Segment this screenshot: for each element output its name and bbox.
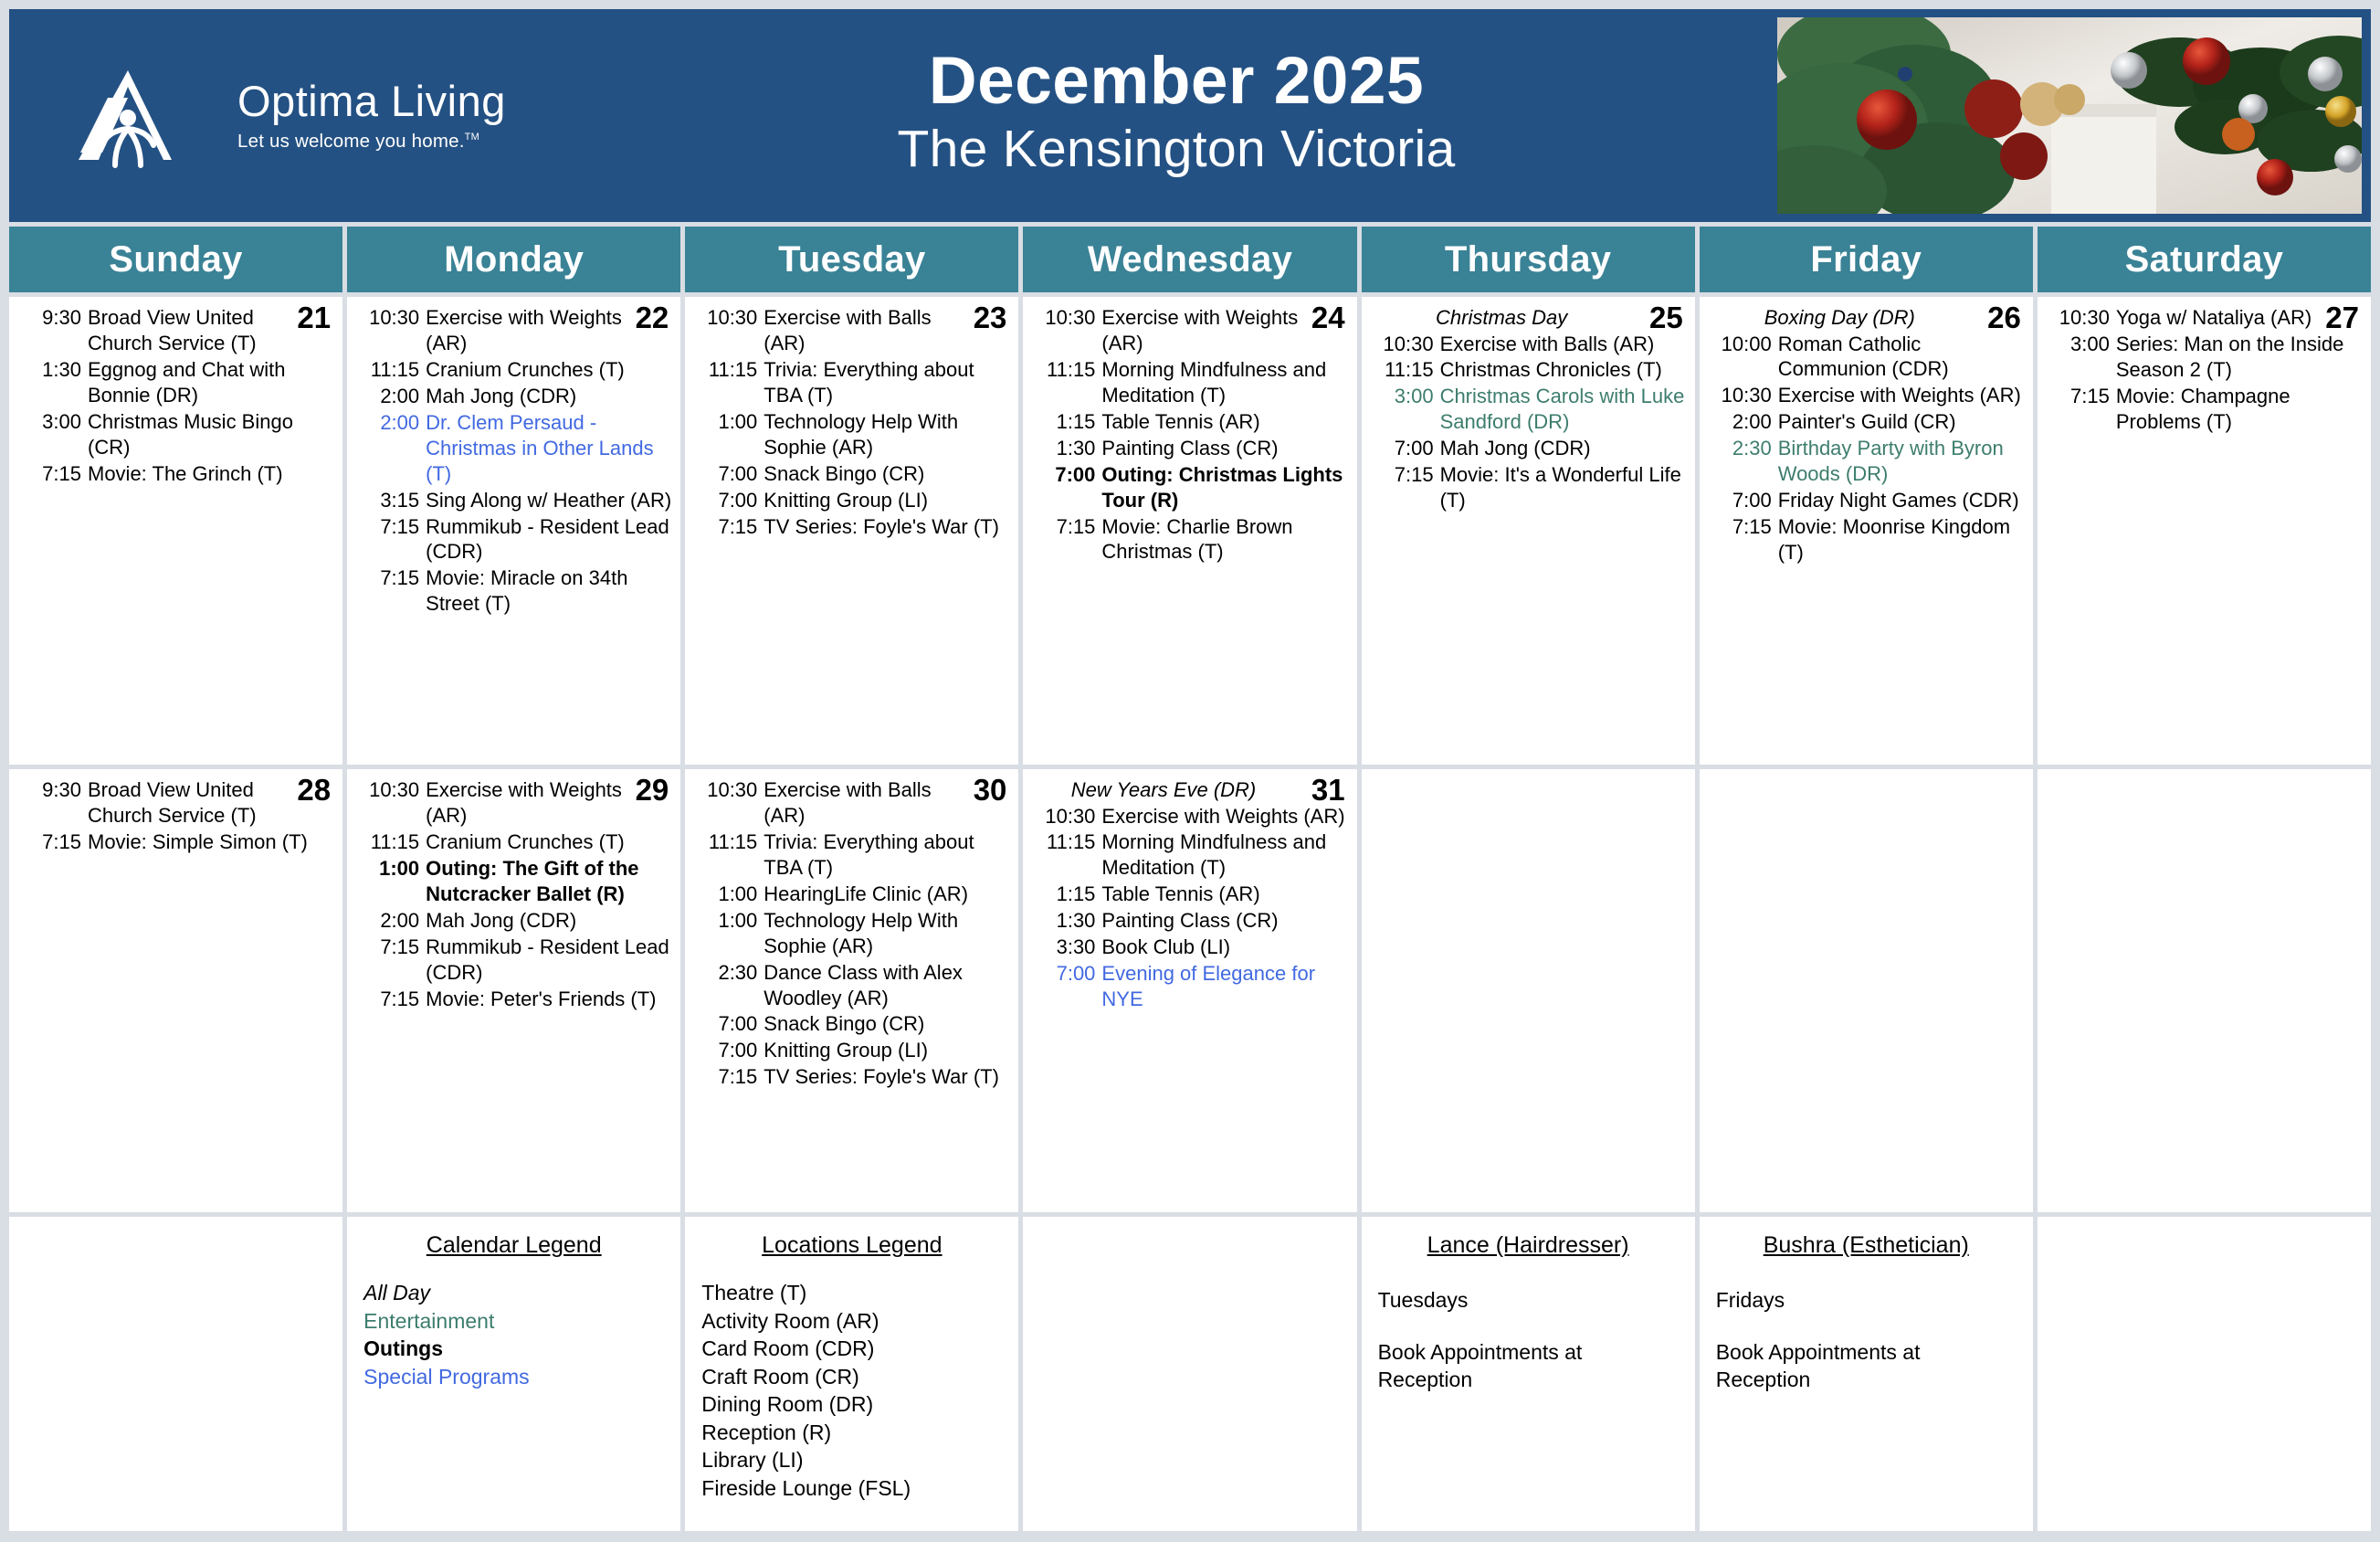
event-time: 9:30 [16, 777, 88, 829]
event-description: Birthday Party with Byron Woods (DR) [1778, 436, 2024, 487]
event-time: 10:30 [1030, 305, 1101, 356]
calendar-event[interactable]: 1:00Technology Help With Sophie (AR) [692, 409, 1009, 460]
event-description: Series: Man on the Inside Season 2 (T) [2116, 332, 2362, 383]
event-description: Cranium Crunches (T) [426, 829, 671, 855]
brand-tagline-text: Let us welcome you home. [237, 131, 465, 152]
day-cell[interactable] [2038, 769, 2371, 1212]
event-description: Christmas Music Bingo (CR) [88, 409, 333, 460]
calendar-legend: Calendar Legend All Day Entertainment Ou… [347, 1217, 680, 1531]
event-description: Morning Mindfulness and Meditation (T) [1101, 829, 1347, 881]
event-description: Painting Class (CR) [1101, 436, 1347, 461]
event-time: 1:00 [692, 409, 763, 460]
event-description: Rummikub - Resident Lead (CDR) [426, 514, 671, 565]
calendar-event[interactable]: 1:00HearingLife Clinic (AR) [692, 882, 1009, 907]
calendar-event[interactable]: 7:15Movie: Peter's Friends (T) [354, 987, 671, 1012]
day-cell[interactable]: 2310:30Exercise with Balls (AR)11:15Triv… [685, 297, 1018, 765]
calendar-event[interactable]: 7:15TV Series: Foyle's War (T) [692, 1064, 1009, 1090]
calendar-event[interactable]: 2:30Birthday Party with Byron Woods (DR) [1707, 436, 2024, 487]
event-time: 11:15 [354, 357, 426, 383]
calendar-event[interactable]: 7:00Knitting Group (LI) [692, 488, 1009, 513]
event-description: Friday Night Games (CDR) [1778, 488, 2024, 513]
event-time: 7:00 [692, 488, 763, 513]
calendar-event[interactable]: 10:30Exercise with Weights (AR) [354, 777, 671, 829]
trademark-mark: TM [465, 132, 479, 143]
event-time: 7:15 [354, 514, 426, 565]
event-time: 10:30 [354, 777, 426, 829]
event-time: 11:15 [1369, 357, 1440, 383]
day-cell[interactable]: 2410:30Exercise with Weights (AR)11:15Mo… [1023, 297, 1356, 765]
calendar-event[interactable]: 7:15Movie: Champagne Problems (T) [2045, 384, 2362, 435]
event-description: Cranium Crunches (T) [426, 357, 671, 383]
event-description: Dance Class with Alex Woodley (AR) [763, 960, 1009, 1011]
event-description: Christmas Chronicles (T) [1440, 357, 1686, 383]
legend-item-entertainment: Entertainment [363, 1307, 664, 1336]
event-description: Christmas Carols with Luke Sandford (DR) [1440, 384, 1686, 435]
event-description: Outing: Christmas Lights Tour (R) [1101, 462, 1347, 513]
event-time: 1:00 [692, 882, 763, 907]
calendar-event[interactable]: 7:00Outing: Christmas Lights Tour (R) [1030, 462, 1347, 513]
calendar-event[interactable]: 7:15Movie: Moonrise Kingdom (T) [1707, 514, 2024, 565]
service-hairdresser-note-1: Book Appointments at [1378, 1338, 1679, 1367]
event-time: 10:30 [2045, 305, 2116, 331]
calendar-event[interactable]: 3:15Sing Along w/ Heather (AR) [354, 488, 671, 513]
service-hairdresser-note-2: Reception [1378, 1366, 1679, 1394]
day-number: 21 [297, 302, 331, 333]
event-time: 1:00 [692, 908, 763, 959]
event-description: Movie: Miracle on 34th Street (T) [426, 565, 671, 617]
event-time: 7:15 [354, 565, 426, 617]
calendar-event[interactable]: 11:15Morning Mindfulness and Meditation … [1030, 357, 1347, 408]
event-time: 2:00 [1707, 409, 1778, 435]
event-description: Exercise with Balls (AR) [1440, 332, 1686, 357]
service-hairdresser-title: Lance (Hairdresser) [1378, 1231, 1679, 1259]
calendar-event[interactable]: 1:15Table Tennis (AR) [1030, 409, 1347, 435]
calendar-event[interactable]: 3:00Christmas Carols with Luke Sandford … [1369, 384, 1686, 435]
locations-legend: Locations Legend Theatre (T) Activity Ro… [685, 1217, 1018, 1531]
event-time: 7:15 [2045, 384, 2116, 435]
calendar-event[interactable]: 1:00Outing: The Gift of the Nutcracker B… [354, 856, 671, 907]
calendar-event[interactable]: 9:30Broad View United Church Service (T) [16, 305, 333, 356]
calendar-event[interactable]: 9:30Broad View United Church Service (T) [16, 777, 333, 829]
day-number: 26 [1987, 302, 2021, 333]
event-description: Sing Along w/ Heather (AR) [426, 488, 671, 513]
location-item-fireside-lounge: Fireside Lounge (FSL) [701, 1474, 1002, 1503]
event-description: Exercise with Weights (AR) [1778, 383, 2024, 408]
day-cell[interactable] [1700, 769, 2033, 1212]
location-item-reception: Reception (R) [701, 1419, 1002, 1447]
calendar-event[interactable]: 7:00Knitting Group (LI) [692, 1038, 1009, 1063]
event-description: Movie: Peter's Friends (T) [426, 987, 671, 1012]
event-time: 7:15 [354, 935, 426, 986]
legend-item-special-programs: Special Programs [363, 1363, 664, 1391]
calendar-event[interactable]: 7:15Movie: Simple Simon (T) [16, 829, 333, 855]
event-time: 7:15 [16, 461, 88, 487]
event-time: 11:15 [692, 829, 763, 881]
day-number: 25 [1649, 302, 1683, 333]
calendar-event[interactable]: 7:15Movie: Miracle on 34th Street (T) [354, 565, 671, 617]
event-time: 7:00 [1030, 961, 1101, 1012]
event-description: Snack Bingo (CR) [763, 461, 1009, 487]
service-hairdresser-days: Tuesdays [1378, 1286, 1679, 1315]
event-description: Book Club (LI) [1101, 935, 1347, 960]
calendar-event[interactable]: 11:15Cranium Crunches (T) [354, 357, 671, 383]
calendar-event[interactable]: 1:30Painting Class (CR) [1030, 908, 1347, 934]
calendar-event[interactable]: 7:00Mah Jong (CDR) [1369, 436, 1686, 461]
calendar-event[interactable]: 7:15Movie: It's a Wonderful Life (T) [1369, 462, 1686, 513]
day-number: 31 [1311, 775, 1345, 805]
event-time: 10:30 [692, 777, 763, 829]
event-time: 3:30 [1030, 935, 1101, 960]
event-time: 7:15 [1030, 514, 1101, 565]
calendar-event[interactable]: 1:30Eggnog and Chat with Bonnie (DR) [16, 357, 333, 408]
event-description: Exercise with Weights (AR) [1101, 804, 1347, 829]
event-time: 7:00 [1030, 462, 1101, 513]
event-description: Mah Jong (CDR) [426, 908, 671, 934]
dow-header-tuesday: Tuesday [685, 227, 1018, 292]
day-cell[interactable]: 289:30Broad View United Church Service (… [9, 769, 342, 1212]
day-number: 28 [297, 775, 331, 805]
event-time: 7:15 [1369, 462, 1440, 513]
event-description: Evening of Elegance for NYE [1101, 961, 1347, 1012]
event-description: Roman Catholic Communion (CDR) [1778, 332, 2024, 383]
dow-header-friday: Friday [1700, 227, 2033, 292]
dow-header-monday: Monday [347, 227, 680, 292]
event-description: HearingLife Clinic (AR) [763, 882, 1009, 907]
event-description: Movie: The Grinch (T) [88, 461, 333, 487]
calendar-page: Optima Living Let us welcome you home.TM… [0, 0, 2380, 1542]
event-time: 10:30 [1707, 383, 1778, 408]
dow-header-saturday: Saturday [2038, 227, 2371, 292]
event-description: Movie: Moonrise Kingdom (T) [1778, 514, 2024, 565]
event-time: 11:15 [692, 357, 763, 408]
calendar-event[interactable]: 10:30Exercise with Weights (AR) [1030, 305, 1347, 356]
calendar-event[interactable]: 11:15Trivia: Everything about TBA (T) [692, 829, 1009, 881]
calendar-grid: Sunday Monday Tuesday Wednesday Thursday… [9, 222, 2371, 1531]
service-hairdresser-gap [1378, 1315, 1679, 1338]
service-esthetician-note-2: Reception [1716, 1366, 2017, 1394]
calendar-event[interactable]: 2:00Painter's Guild (CR) [1707, 409, 2024, 435]
day-cell[interactable]: 2710:30Yoga w/ Nataliya (AR)3:00Series: … [2038, 297, 2371, 765]
event-time: 10:30 [692, 305, 763, 356]
locations-legend-title: Locations Legend [701, 1231, 1002, 1259]
day-number: 27 [2325, 302, 2359, 333]
event-time: 1:15 [1030, 409, 1101, 435]
calendar-legend-title: Calendar Legend [363, 1231, 664, 1259]
brand-logo: Optima Living Let us welcome you home.TM [9, 9, 575, 222]
event-time: 10:00 [1707, 332, 1778, 383]
calendar-event[interactable]: 7:00Friday Night Games (CDR) [1707, 488, 2024, 513]
day-cell[interactable]: 25Christmas Day10:30Exercise with Balls … [1362, 297, 1695, 765]
calendar-event[interactable]: 10:30Exercise with Weights (AR) [1030, 804, 1347, 829]
calendar-event[interactable]: 1:00Technology Help With Sophie (AR) [692, 908, 1009, 959]
calendar-event[interactable]: 10:30Exercise with Balls (AR) [692, 777, 1009, 829]
calendar-event[interactable]: 10:30Exercise with Weights (AR) [1707, 383, 2024, 408]
event-time: 2:00 [354, 384, 426, 409]
event-time: 9:30 [16, 305, 88, 356]
all-day-event: Christmas Day [1369, 305, 1686, 331]
event-time: 11:15 [1030, 357, 1101, 408]
day-number: 29 [636, 775, 669, 805]
calendar-event[interactable]: 11:15Morning Mindfulness and Meditation … [1030, 829, 1347, 881]
day-cell[interactable]: 2910:30Exercise with Weights (AR)11:15Cr… [347, 769, 680, 1212]
event-description: Eggnog and Chat with Bonnie (DR) [88, 357, 333, 408]
event-description: Mah Jong (CDR) [426, 384, 671, 409]
legend-row-spacer-middle [1023, 1217, 1356, 1531]
calendar-event[interactable]: 11:15Cranium Crunches (T) [354, 829, 671, 855]
event-time: 7:00 [692, 1038, 763, 1063]
event-description: Snack Bingo (CR) [763, 1011, 1009, 1037]
service-esthetician-days: Fridays [1716, 1286, 2017, 1315]
calendar-event[interactable]: 7:15Rummikub - Resident Lead (CDR) [354, 935, 671, 986]
page-header: Optima Living Let us welcome you home.TM… [9, 9, 2371, 222]
service-esthetician-gap [1716, 1315, 2017, 1338]
calendar-event[interactable]: 2:00Mah Jong (CDR) [354, 908, 671, 934]
christmas-tree-ornaments-photo [1777, 17, 2362, 214]
calendar-event[interactable]: 10:30Exercise with Balls (AR) [692, 305, 1009, 356]
day-cell[interactable]: 219:30Broad View United Church Service (… [9, 297, 342, 765]
service-esthetician: Bushra (Esthetician) Fridays Book Appoin… [1700, 1217, 2033, 1531]
event-time: 7:15 [692, 514, 763, 540]
location-item-dining-room: Dining Room (DR) [701, 1390, 1002, 1419]
event-description: Table Tennis (AR) [1101, 409, 1347, 435]
day-cell[interactable] [1362, 769, 1695, 1212]
legend-row-spacer-right [2038, 1217, 2371, 1531]
event-description: Mah Jong (CDR) [1440, 436, 1686, 461]
event-description: TV Series: Foyle's War (T) [763, 514, 1009, 540]
day-number: 30 [974, 775, 1007, 805]
event-time: 1:30 [1030, 436, 1101, 461]
event-time: 3:00 [16, 409, 88, 460]
event-description: Trivia: Everything about TBA (T) [763, 357, 1009, 408]
all-day-event: New Years Eve (DR) [1030, 777, 1347, 803]
event-description: Dr. Clem Persaud - Christmas in Other La… [426, 410, 671, 487]
calendar-event[interactable]: 10:30Yoga w/ Nataliya (AR) [2045, 305, 2362, 331]
brand-tagline: Let us welcome you home.TM [237, 131, 506, 153]
event-description: Painting Class (CR) [1101, 908, 1347, 934]
event-time: 7:00 [1707, 488, 1778, 513]
service-hairdresser: Lance (Hairdresser) Tuesdays Book Appoin… [1362, 1217, 1695, 1531]
event-time: 10:30 [354, 305, 426, 356]
event-description: Movie: Charlie Brown Christmas (T) [1101, 514, 1347, 565]
legend-item-outings: Outings [363, 1335, 664, 1363]
event-time: 11:15 [1030, 829, 1101, 881]
day-cell[interactable]: 26Boxing Day (DR)10:00Roman Catholic Com… [1700, 297, 2033, 765]
calendar-event[interactable]: 7:15Rummikub - Resident Lead (CDR) [354, 514, 671, 565]
calendar-event[interactable]: 2:30Dance Class with Alex Woodley (AR) [692, 960, 1009, 1011]
event-time: 10:30 [1369, 332, 1440, 357]
event-time: 2:00 [354, 410, 426, 487]
calendar-event[interactable]: 7:00Evening of Elegance for NYE [1030, 961, 1347, 1012]
event-time: 2:30 [692, 960, 763, 1011]
event-description: Rummikub - Resident Lead (CDR) [426, 935, 671, 986]
calendar-event[interactable]: 7:00Snack Bingo (CR) [692, 461, 1009, 487]
location-item-card-room: Card Room (CDR) [701, 1335, 1002, 1363]
event-time: 2:30 [1707, 436, 1778, 487]
day-cell[interactable]: 2210:30Exercise with Weights (AR)11:15Cr… [347, 297, 680, 765]
event-time: 7:15 [692, 1064, 763, 1090]
calendar-event[interactable]: 3:00Series: Man on the Inside Season 2 (… [2045, 332, 2362, 383]
calendar-event[interactable]: 2:00Mah Jong (CDR) [354, 384, 671, 409]
day-cell[interactable]: 31New Years Eve (DR)10:30Exercise with W… [1023, 769, 1356, 1212]
day-number: 22 [636, 302, 669, 333]
calendar-event[interactable]: 10:30Exercise with Balls (AR) [1369, 332, 1686, 357]
calendar-event[interactable]: 10:30Exercise with Weights (AR) [354, 305, 671, 356]
event-time: 1:15 [1030, 882, 1101, 907]
event-time: 2:00 [354, 908, 426, 934]
calendar-event[interactable]: 2:00Dr. Clem Persaud - Christmas in Othe… [354, 410, 671, 487]
event-description: Movie: Simple Simon (T) [88, 829, 333, 855]
event-description: Outing: The Gift of the Nutcracker Balle… [426, 856, 671, 907]
event-time: 7:00 [692, 461, 763, 487]
calendar-event[interactable]: 10:00Roman Catholic Communion (CDR) [1707, 332, 2024, 383]
service-esthetician-title: Bushra (Esthetician) [1716, 1231, 2017, 1259]
event-description: Technology Help With Sophie (AR) [763, 409, 1009, 460]
day-number: 24 [1311, 302, 1345, 333]
calendar-month-title: December 2025 [575, 46, 1777, 118]
mountain-person-logo-icon [71, 61, 217, 171]
event-description: Movie: It's a Wonderful Life (T) [1440, 462, 1686, 513]
service-esthetician-note-1: Book Appointments at [1716, 1338, 2017, 1367]
calendar-event[interactable]: 11:15Trivia: Everything about TBA (T) [692, 357, 1009, 408]
location-item-library: Library (LI) [701, 1446, 1002, 1474]
dow-header-thursday: Thursday [1362, 227, 1695, 292]
calendar-event[interactable]: 3:30Book Club (LI) [1030, 935, 1347, 960]
day-number: 23 [974, 302, 1007, 333]
event-description: Painter's Guild (CR) [1778, 409, 2024, 435]
event-description: Technology Help With Sophie (AR) [763, 908, 1009, 959]
legend-item-all-day: All Day [363, 1279, 664, 1307]
event-description: Movie: Champagne Problems (T) [2116, 384, 2362, 435]
calendar-event[interactable]: 1:15Table Tennis (AR) [1030, 882, 1347, 907]
event-time: 11:15 [354, 829, 426, 855]
event-description: TV Series: Foyle's War (T) [763, 1064, 1009, 1090]
event-time: 7:15 [16, 829, 88, 855]
event-time: 3:00 [1369, 384, 1440, 435]
event-description: Table Tennis (AR) [1101, 882, 1347, 907]
calendar-event[interactable]: 3:00Christmas Music Bingo (CR) [16, 409, 333, 460]
community-name: The Kensington Victoria [575, 120, 1777, 180]
event-time: 7:00 [1369, 436, 1440, 461]
event-time: 1:30 [1030, 908, 1101, 934]
event-description: Knitting Group (LI) [763, 488, 1009, 513]
event-time: 7:15 [1707, 514, 1778, 565]
all-day-event: Boxing Day (DR) [1707, 305, 2024, 331]
event-time: 7:00 [692, 1011, 763, 1037]
brand-name: Optima Living [237, 79, 506, 123]
calendar-title-block: December 2025 The Kensington Victoria [575, 46, 1777, 185]
event-time: 7:15 [354, 987, 426, 1012]
legend-row-spacer-left [9, 1217, 342, 1531]
event-time: 10:30 [1030, 804, 1101, 829]
event-time: 3:00 [2045, 332, 2116, 383]
calendar-event[interactable]: 11:15Christmas Chronicles (T) [1369, 357, 1686, 383]
location-item-theatre: Theatre (T) [701, 1279, 1002, 1307]
calendar-event[interactable]: 7:15Movie: The Grinch (T) [16, 461, 333, 487]
event-time: 3:15 [354, 488, 426, 513]
event-time: 1:30 [16, 357, 88, 408]
day-cell[interactable]: 3010:30Exercise with Balls (AR)11:15Triv… [685, 769, 1018, 1212]
location-item-craft-room: Craft Room (CR) [701, 1363, 1002, 1391]
dow-header-wednesday: Wednesday [1023, 227, 1356, 292]
calendar-event[interactable]: 7:15Movie: Charlie Brown Christmas (T) [1030, 514, 1347, 565]
calendar-event[interactable]: 1:30Painting Class (CR) [1030, 436, 1347, 461]
calendar-event[interactable]: 7:15TV Series: Foyle's War (T) [692, 514, 1009, 540]
dow-header-sunday: Sunday [9, 227, 342, 292]
event-description: Morning Mindfulness and Meditation (T) [1101, 357, 1347, 408]
event-description: Knitting Group (LI) [763, 1038, 1009, 1063]
event-description: Trivia: Everything about TBA (T) [763, 829, 1009, 881]
event-time: 1:00 [354, 856, 426, 907]
location-item-activity-room: Activity Room (AR) [701, 1307, 1002, 1336]
calendar-event[interactable]: 7:00Snack Bingo (CR) [692, 1011, 1009, 1037]
